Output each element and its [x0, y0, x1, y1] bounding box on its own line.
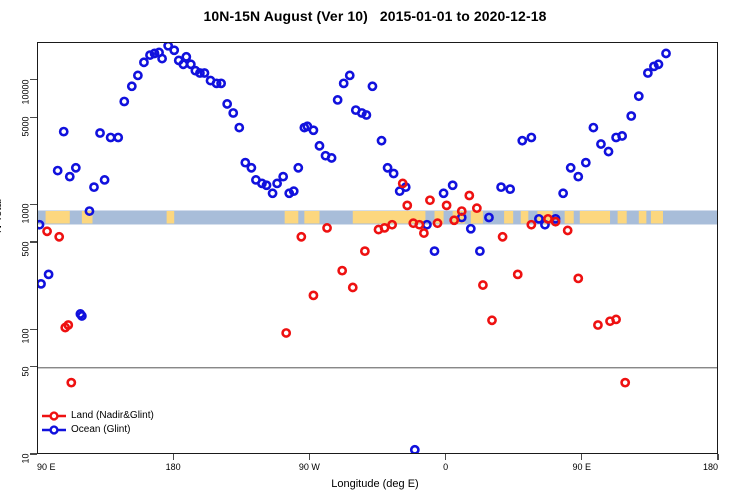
- y-tick-label: 500: [22, 241, 31, 267]
- data-point: [590, 124, 597, 131]
- data-point: [96, 129, 103, 136]
- data-point: [440, 190, 447, 197]
- x-tick-label: 180: [166, 463, 181, 472]
- land-patch: [618, 211, 627, 224]
- data-point: [295, 164, 302, 171]
- land-patch: [651, 211, 663, 224]
- land-patch: [504, 211, 513, 224]
- y-tick-mark: [30, 117, 37, 118]
- data-point: [236, 124, 243, 131]
- data-point: [248, 164, 255, 171]
- data-point: [582, 159, 589, 166]
- data-point: [564, 227, 571, 234]
- data-point: [497, 184, 504, 191]
- legend-item[interactable]: Ocean (Glint): [41, 423, 154, 437]
- x-tick-mark: [445, 454, 446, 460]
- plot-area: [37, 42, 718, 454]
- x-tick-mark: [717, 454, 718, 460]
- y-tick-mark: [30, 453, 37, 454]
- land-patch: [285, 211, 299, 224]
- land-patch: [167, 211, 175, 224]
- data-point: [107, 134, 114, 141]
- data-point: [404, 202, 411, 209]
- chart-figure: 10N-15N August (Ver 10) 2015-01-01 to 20…: [0, 0, 750, 500]
- data-point: [466, 192, 473, 199]
- data-point: [528, 134, 535, 141]
- legend-item[interactable]: Land (Nadir&Glint): [41, 409, 154, 423]
- data-point: [101, 176, 108, 183]
- land-patch: [639, 211, 647, 224]
- data-point: [45, 271, 52, 278]
- data-point: [316, 142, 323, 149]
- data-point: [473, 205, 480, 212]
- data-point: [140, 59, 147, 66]
- data-point: [290, 188, 297, 195]
- scatter-plot-canvas: [38, 43, 718, 454]
- data-point: [381, 224, 388, 231]
- y-tick-mark: [30, 204, 37, 205]
- data-point: [280, 173, 287, 180]
- data-point: [38, 280, 45, 287]
- data-point: [390, 170, 397, 177]
- data-point: [567, 164, 574, 171]
- data-point: [612, 316, 619, 323]
- data-point: [389, 221, 396, 228]
- data-point: [443, 202, 450, 209]
- data-point: [420, 229, 427, 236]
- legend: Land (Nadir&Glint)Ocean (Glint): [41, 409, 154, 437]
- y-tick-label: 50: [22, 366, 31, 392]
- data-point: [310, 127, 317, 134]
- y-tick-mark: [30, 241, 37, 242]
- legend-marker-icon: [41, 423, 67, 437]
- data-point: [224, 100, 231, 107]
- legend-label: Ocean (Glint): [67, 423, 130, 437]
- series-ocean-glint: [38, 43, 670, 453]
- x-tick-label: 90 W: [299, 463, 320, 472]
- data-point: [528, 221, 535, 228]
- land-patch: [580, 211, 610, 224]
- data-point: [134, 72, 141, 79]
- data-point: [622, 379, 629, 386]
- data-point: [54, 167, 61, 174]
- y-tick-label: 5000: [22, 117, 31, 143]
- data-point: [416, 221, 423, 228]
- data-point: [431, 248, 438, 255]
- data-point: [423, 221, 430, 228]
- data-point: [662, 50, 669, 57]
- data-point: [90, 184, 97, 191]
- data-point: [476, 248, 483, 255]
- data-point: [361, 248, 368, 255]
- data-point: [56, 233, 63, 240]
- y-axis-label: N Total: [0, 199, 4, 233]
- data-point: [230, 109, 237, 116]
- x-tick-label: 90 E: [37, 463, 56, 472]
- x-tick-label: 180: [703, 463, 718, 472]
- data-point: [38, 221, 43, 228]
- x-tick-mark: [173, 454, 174, 460]
- data-point: [619, 132, 626, 139]
- x-tick-mark: [581, 454, 582, 460]
- data-point: [68, 379, 75, 386]
- data-point: [514, 271, 521, 278]
- data-point: [560, 190, 567, 197]
- y-tick-label: 1000: [22, 204, 31, 230]
- y-tick-mark: [30, 79, 37, 80]
- land-patch: [565, 211, 574, 224]
- data-point: [628, 112, 635, 119]
- data-point: [507, 186, 514, 193]
- land-patch: [304, 211, 319, 224]
- data-point: [369, 83, 376, 90]
- data-point: [298, 233, 305, 240]
- data-point: [575, 173, 582, 180]
- data-point: [274, 180, 281, 187]
- data-point: [597, 140, 604, 147]
- data-point: [594, 321, 601, 328]
- land-patch: [521, 211, 529, 224]
- y-tick-label: 10: [22, 454, 31, 480]
- data-point: [60, 128, 67, 135]
- x-tick-label: 90 E: [573, 463, 592, 472]
- data-point: [121, 98, 128, 105]
- legend-marker-icon: [41, 409, 67, 423]
- data-point: [158, 55, 165, 62]
- data-point: [575, 275, 582, 282]
- x-axis-label: Longitude (deg E): [0, 478, 750, 490]
- y-tick-label: 10000: [22, 79, 31, 105]
- data-point: [519, 137, 526, 144]
- data-point: [426, 197, 433, 204]
- y-tick-mark: [30, 329, 37, 330]
- land-patch: [46, 211, 70, 224]
- data-point: [334, 96, 341, 103]
- data-point: [349, 284, 356, 291]
- data-point: [488, 317, 495, 324]
- data-point: [479, 281, 486, 288]
- page-title: 10N-15N August (Ver 10) 2015-01-01 to 20…: [0, 8, 750, 24]
- data-point: [346, 72, 353, 79]
- data-point: [605, 148, 612, 155]
- data-point: [171, 47, 178, 54]
- data-point: [328, 154, 335, 161]
- data-point: [183, 53, 190, 60]
- data-point: [644, 69, 651, 76]
- data-point: [323, 224, 330, 231]
- legend-label: Land (Nadir&Glint): [67, 409, 154, 423]
- data-point: [283, 329, 290, 336]
- data-point: [499, 233, 506, 240]
- y-tick-mark: [30, 366, 37, 367]
- data-point: [378, 137, 385, 144]
- data-point: [180, 61, 187, 68]
- data-point: [115, 134, 122, 141]
- data-point: [467, 225, 474, 232]
- data-point: [340, 80, 347, 87]
- y-tick-label: 100: [22, 329, 31, 355]
- data-point: [310, 292, 317, 299]
- data-point: [655, 61, 662, 68]
- data-point: [363, 111, 370, 118]
- data-point: [635, 93, 642, 100]
- x-tick-label: 0: [443, 463, 448, 472]
- data-point: [449, 182, 456, 189]
- data-point: [339, 267, 346, 274]
- data-point: [66, 173, 73, 180]
- data-point: [411, 446, 418, 453]
- data-point: [72, 164, 79, 171]
- land-patch: [434, 211, 443, 224]
- x-tick-mark: [309, 454, 310, 460]
- data-point: [128, 83, 135, 90]
- data-point: [269, 190, 276, 197]
- data-point: [43, 228, 50, 235]
